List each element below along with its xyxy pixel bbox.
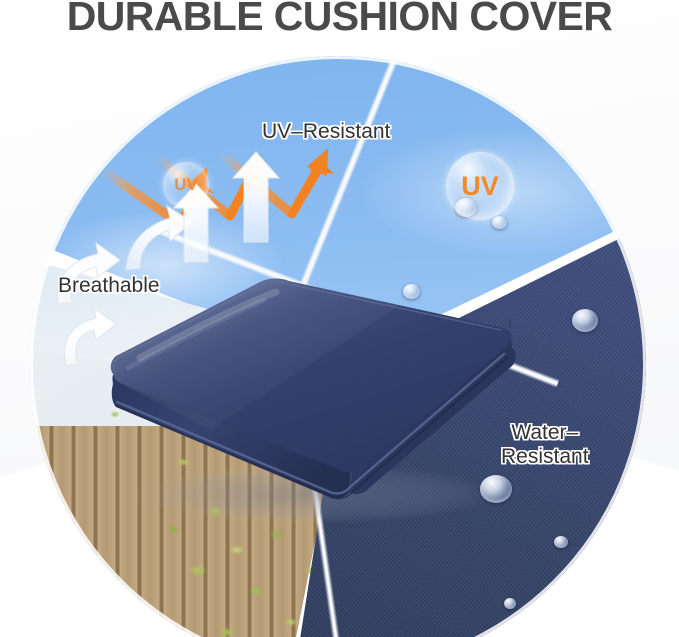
water-resistant-label: Water–Resistant: [501, 421, 589, 468]
page-title: DURABLE CUSHION COVER: [0, 0, 679, 40]
water-droplet-icon: [572, 309, 598, 332]
uv-bubble-small-text: UV: [174, 175, 198, 195]
uv-resistant-label: UV–Resistant: [262, 120, 390, 144]
uv-bubble-large-text: UV: [461, 171, 499, 202]
uv-bubble-small: UV: [163, 162, 209, 208]
uv-bubble-large: UV: [446, 152, 514, 220]
product-feature-graphic: DURABLE CUSHION COVER UV–Resistant Breat…: [0, 0, 679, 637]
cushion-product-image: [100, 262, 520, 527]
water-resistant-label-line1: Water–: [511, 421, 578, 444]
water-resistant-label-line2: Resistant: [501, 445, 589, 468]
breathable-label: Breathable: [58, 274, 160, 298]
